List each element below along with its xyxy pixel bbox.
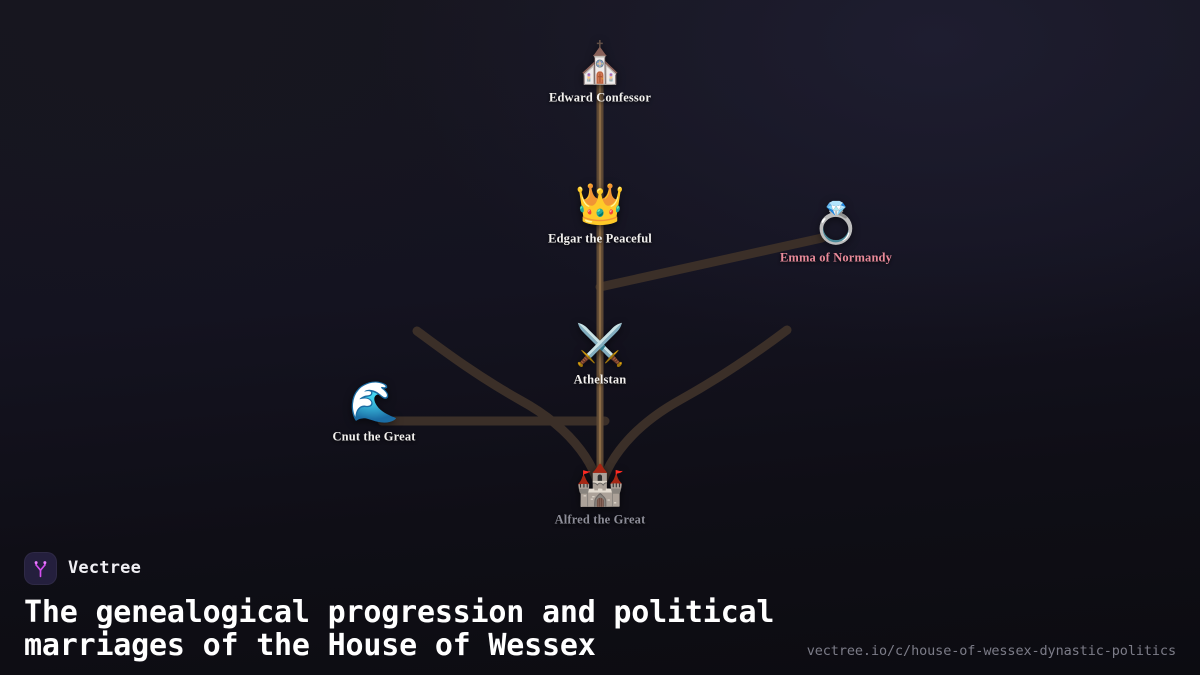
ring-icon: 💍 (811, 201, 861, 247)
church-icon: ⛪ (575, 41, 625, 87)
tree-node-label: Edward Confessor (549, 91, 651, 106)
tree-node-alfred-the-great[interactable]: 🏰Alfred the Great (555, 463, 646, 528)
tree-node-label: Edgar the Peaceful (548, 232, 652, 247)
tree-node-label: Cnut the Great (332, 430, 415, 445)
footer: Vectree The genealogical progression and… (0, 552, 1200, 675)
tree-node-label: Alfred the Great (555, 513, 646, 528)
brand-block: Vectree (24, 552, 1176, 585)
crown-icon: 👑 (575, 182, 625, 228)
infographic-canvas: ⛪Edward Confessor👑Edgar the Peaceful💍Emm… (0, 0, 1200, 675)
wave-icon: 🌊 (349, 380, 399, 426)
tree-node-edgar-the-peaceful[interactable]: 👑Edgar the Peaceful (548, 182, 652, 247)
brand-name: Vectree (68, 558, 141, 578)
tree-branch-logo-icon (24, 552, 57, 585)
castle-icon: 🏰 (575, 463, 625, 509)
tree-node-emma-of-normandy[interactable]: 💍Emma of Normandy (780, 201, 892, 266)
tree-node-label: Athelstan (574, 373, 627, 388)
tree-node-cnut-the-great[interactable]: 🌊Cnut the Great (332, 380, 415, 445)
crossed-swords-icon: ⚔️ (575, 323, 625, 369)
tree-node-label: Emma of Normandy (780, 251, 892, 266)
tree-node-athelstan[interactable]: ⚔️Athelstan (574, 323, 627, 388)
tree-node-edward-confessor[interactable]: ⛪Edward Confessor (549, 41, 651, 106)
page-title: The genealogical progression and politic… (24, 596, 824, 663)
